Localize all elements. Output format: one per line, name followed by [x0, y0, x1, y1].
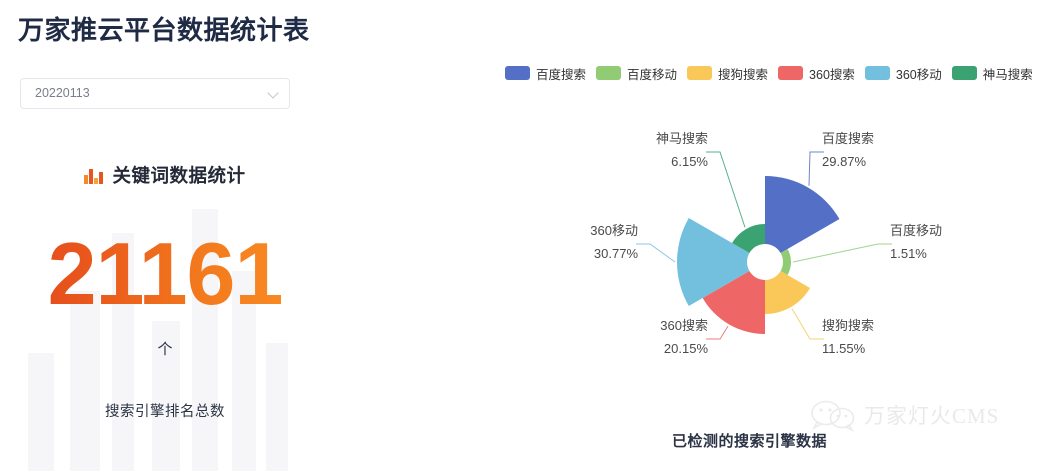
rose-leader-line-4 — [636, 244, 675, 262]
rose-label-name-3: 360搜索 — [660, 318, 708, 333]
stat-number: 21161 — [0, 230, 330, 318]
stat-caption: 搜索引擎排名总数 — [0, 400, 330, 421]
rose-label-percent-1: 1.51% — [890, 246, 927, 261]
bar-chart-icon — [84, 167, 103, 184]
chevron-down-icon[interactable] — [268, 88, 279, 99]
legend-item-4[interactable]: 360移动 — [865, 64, 942, 83]
legend-label: 360移动 — [896, 64, 942, 83]
keyword-stat-panel: 关键词数据统计 21161 个 搜索引擎排名总数 — [0, 130, 330, 471]
legend-item-1[interactable]: 百度移动 — [596, 64, 677, 83]
rose-slice-2[interactable] — [765, 271, 810, 314]
rose-label-percent-2: 11.55% — [822, 341, 866, 356]
rose-label-name-0: 百度搜索 — [822, 131, 874, 146]
rose-slice-1[interactable] — [781, 249, 791, 275]
legend-swatch-icon — [596, 66, 621, 80]
rose-label-percent-5: 6.15% — [671, 154, 708, 169]
rose-label-name-2: 搜狗搜索 — [822, 318, 874, 333]
stat-panel-heading: 关键词数据统计 — [0, 162, 330, 188]
rose-leader-line-5 — [706, 152, 745, 227]
rose-leader-line-3 — [706, 326, 728, 339]
legend-label: 搜狗搜索 — [718, 64, 768, 83]
rose-leader-line-1 — [793, 244, 892, 262]
stat-panel-heading-label: 关键词数据统计 — [112, 162, 245, 188]
rose-label-percent-3: 20.15% — [664, 341, 709, 356]
date-select-value: 20220113 — [35, 87, 268, 100]
rose-leader-line-2 — [792, 309, 824, 339]
rose-label-name-5: 神马搜索 — [656, 131, 708, 146]
legend-item-2[interactable]: 搜狗搜索 — [687, 64, 768, 83]
legend-swatch-icon — [687, 66, 712, 80]
legend-item-3[interactable]: 360搜索 — [778, 64, 855, 83]
legend-label: 百度搜索 — [536, 64, 586, 83]
legend-swatch-icon — [865, 66, 890, 80]
legend-label: 百度移动 — [627, 64, 677, 83]
stat-unit: 个 — [0, 338, 330, 359]
legend-label: 360搜索 — [809, 64, 855, 83]
legend-item-5[interactable]: 神马搜索 — [952, 64, 1033, 83]
rose-label-percent-4: 30.77% — [594, 246, 639, 261]
rose-label-percent-0: 29.87% — [822, 154, 867, 169]
rose-slices — [677, 176, 839, 334]
page-title: 万家推云平台数据统计表 — [18, 10, 310, 47]
legend-label: 神马搜索 — [983, 64, 1033, 83]
rose-slice-0[interactable] — [765, 176, 839, 253]
chart-bottom-caption: 已检测的搜索引擎数据 — [672, 430, 827, 451]
legend-swatch-icon — [952, 66, 977, 80]
rose-chart-svg: 百度搜索29.87%百度移动1.51%搜狗搜索11.55%360搜索20.15%… — [560, 120, 1040, 410]
legend-swatch-icon — [505, 66, 530, 80]
legend-swatch-icon — [778, 66, 803, 80]
rose-label-name-4: 360移动 — [590, 223, 638, 238]
date-select[interactable]: 20220113 — [20, 78, 290, 109]
chart-legend: 百度搜索百度移动搜狗搜索360搜索360移动神马搜索 — [505, 62, 1035, 84]
page-root: 万家推云平台数据统计表 20220113 关键词数据统计 21161 个 搜索引… — [0, 0, 1051, 471]
legend-item-0[interactable]: 百度搜索 — [505, 64, 586, 83]
search-engine-rose-chart: 百度搜索29.87%百度移动1.51%搜狗搜索11.55%360搜索20.15%… — [560, 120, 1040, 410]
rose-label-name-1: 百度移动 — [890, 223, 942, 238]
